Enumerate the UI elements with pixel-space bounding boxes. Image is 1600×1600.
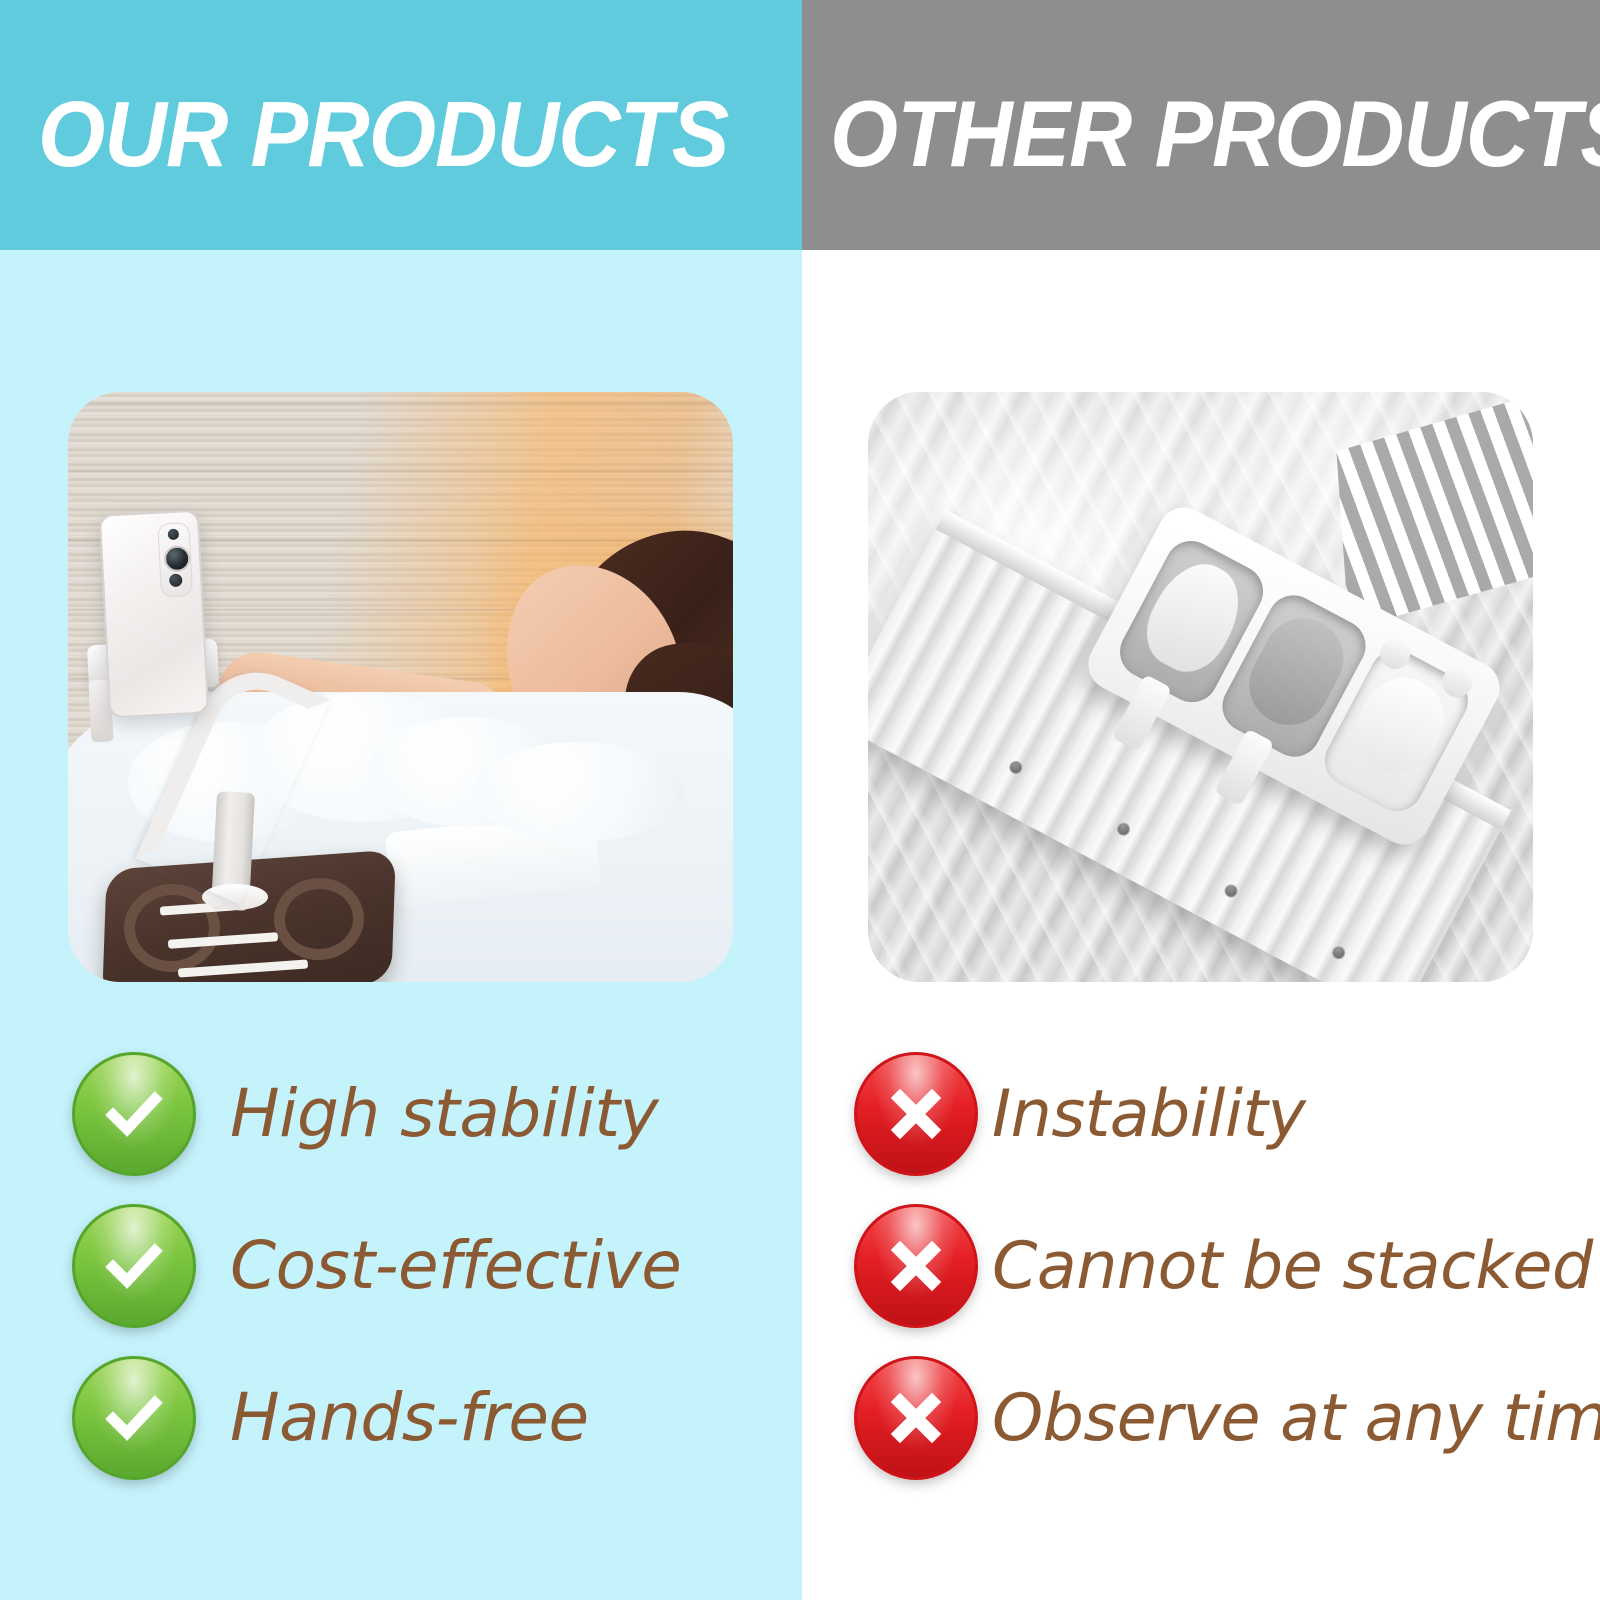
ours-header-title: OUR PRODUCTS — [38, 88, 728, 181]
other-feature-row-2: Cannot be stacked — [802, 1190, 1600, 1342]
ours-body: High stability Cost-effective — [0, 250, 802, 1600]
other-feature-row-1: Instability — [802, 1038, 1600, 1190]
screw-icon — [1115, 820, 1133, 838]
cross-mark-icon — [857, 1055, 975, 1173]
ours-feature-label: Hands-free — [230, 1385, 589, 1451]
other-feature-label: Cannot be stacked — [992, 1234, 1593, 1299]
cross-circle-icon — [854, 1356, 978, 1480]
other-feature-list: Instability Cannot be stacked — [802, 1038, 1600, 1494]
check-circle-icon — [72, 1356, 196, 1480]
ours-feature-row-2: Cost-effective — [0, 1190, 802, 1342]
cross-mark-icon — [857, 1207, 975, 1325]
animal-popsicle-shape — [1133, 550, 1255, 685]
screw-icon — [1007, 759, 1025, 777]
smartphone — [99, 510, 210, 719]
other-product-photo — [868, 392, 1533, 982]
check-mark-icon — [75, 1055, 193, 1173]
product-comparison-page: OUR PRODUCTS — [0, 0, 1600, 1600]
bubble-foam — [473, 742, 683, 842]
ours-feature-list: High stability Cost-effective — [0, 1038, 802, 1494]
phone-camera-module — [157, 522, 193, 598]
check-circle-icon — [72, 1052, 196, 1176]
check-mark-icon — [75, 1207, 193, 1325]
ours-product-photo — [68, 392, 733, 982]
screw-icon — [1330, 944, 1348, 962]
check-circle-icon — [72, 1204, 196, 1328]
other-feature-label: Observe at any time — [992, 1386, 1600, 1451]
camera-lens-icon — [168, 529, 180, 541]
popsicle-mold-scene — [868, 392, 1533, 982]
camera-lens-icon — [169, 573, 183, 587]
bathtub-scene — [68, 392, 733, 982]
cross-circle-icon — [854, 1052, 978, 1176]
other-panel: OTHER PRODUCTS — [802, 0, 1600, 1600]
other-body: Instability Cannot be stacked — [802, 250, 1600, 1600]
ours-panel: OUR PRODUCTS — [0, 0, 802, 1600]
ours-feature-label: High stability — [230, 1081, 658, 1147]
check-mark-icon — [75, 1359, 193, 1477]
cross-mark-icon — [857, 1359, 975, 1477]
ours-feature-row-3: Hands-free — [0, 1342, 802, 1494]
other-header-band: OTHER PRODUCTS — [802, 0, 1600, 250]
other-feature-row-3: Observe at any time — [802, 1342, 1600, 1494]
other-header-title: OTHER PRODUCTS — [830, 87, 1600, 181]
ours-feature-row-1: High stability — [0, 1038, 802, 1190]
screw-icon — [1222, 882, 1240, 900]
ours-feature-label: Cost-effective — [230, 1233, 681, 1299]
cross-circle-icon — [854, 1204, 978, 1328]
camera-lens-icon — [163, 545, 190, 572]
other-feature-label: Instability — [992, 1082, 1305, 1147]
oval-popsicle-shape — [1235, 604, 1357, 739]
ours-header-band: OUR PRODUCTS — [0, 0, 802, 250]
